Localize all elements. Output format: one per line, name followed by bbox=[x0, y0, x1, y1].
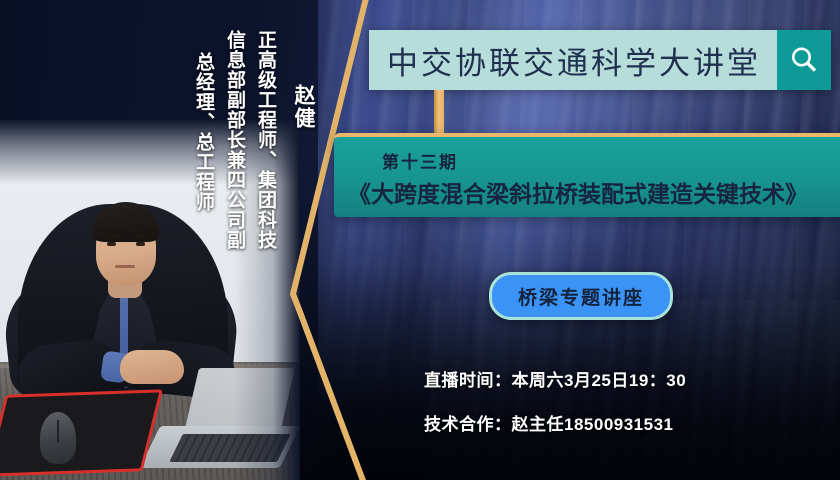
portrait-mouse-scroll bbox=[57, 420, 59, 442]
speaker-name: 赵健 bbox=[288, 84, 318, 130]
gold-connector-bar bbox=[434, 90, 444, 138]
topic-pill-label: 桥梁专题讲座 bbox=[518, 283, 644, 310]
subtitle-ribbon: 第十三期 《大跨度混合梁斜拉桥装配式建造关键技术》 bbox=[334, 133, 840, 217]
speaker-credential-line-3: 总经理、总工程师 bbox=[190, 52, 217, 212]
portrait-clasped-hands bbox=[120, 350, 184, 384]
search-icon-box[interactable] bbox=[777, 30, 831, 90]
search-icon bbox=[789, 45, 819, 75]
portrait-laptop-keyboard bbox=[169, 434, 291, 462]
contact-info: 技术合作：赵主任18500931531 bbox=[424, 410, 674, 435]
broadcast-time: 直播时间：本周六3月25日19：30 bbox=[424, 366, 686, 391]
brand-banner: 中交协联交通科学大讲堂 bbox=[369, 30, 831, 90]
brand-title: 中交协联交通科学大讲堂 bbox=[369, 30, 777, 90]
lecture-title: 《大跨度混合梁斜拉桥装配式建造关键技术》 bbox=[348, 175, 808, 209]
portrait-brow-right bbox=[134, 235, 147, 238]
webinar-poster: 总经理、总工程师 信息部副部长兼四公司副 正高级工程师、集团科技 赵健 中交协联… bbox=[0, 0, 840, 480]
episode-number: 第十三期 bbox=[382, 148, 458, 173]
portrait-mousepad bbox=[0, 389, 163, 476]
portrait-mouth bbox=[115, 265, 135, 268]
portrait-brow-left bbox=[105, 235, 118, 238]
speaker-credential-line-1: 正高级工程师、集团科技 bbox=[252, 30, 279, 250]
speaker-credential-line-2: 信息部副部长兼四公司副 bbox=[221, 30, 248, 250]
topic-pill-button[interactable]: 桥梁专题讲座 bbox=[489, 272, 673, 320]
portrait-eye-right bbox=[136, 242, 145, 246]
portrait-eye-left bbox=[107, 242, 116, 246]
